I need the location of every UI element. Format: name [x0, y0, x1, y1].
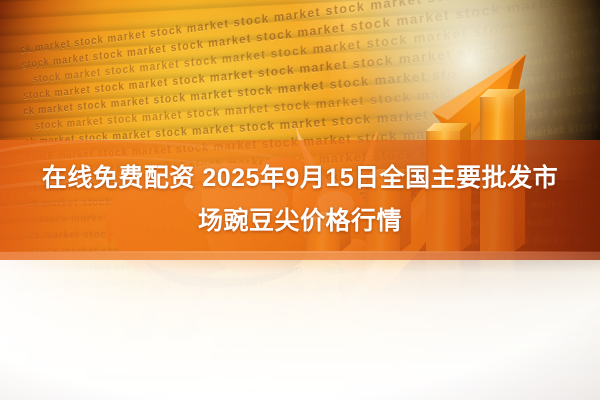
- headline-line-1: 在线免费配资 2025年9月15日全国主要批发市: [42, 157, 558, 200]
- banner-image: stock market stock market stock market s…: [0, 0, 600, 400]
- floor-color-tint: [0, 252, 600, 400]
- headline-band: 在线免费配资 2025年9月15日全国主要批发市 场豌豆尖价格行情: [0, 140, 600, 260]
- headline-line-2: 场豌豆尖价格行情: [198, 200, 402, 243]
